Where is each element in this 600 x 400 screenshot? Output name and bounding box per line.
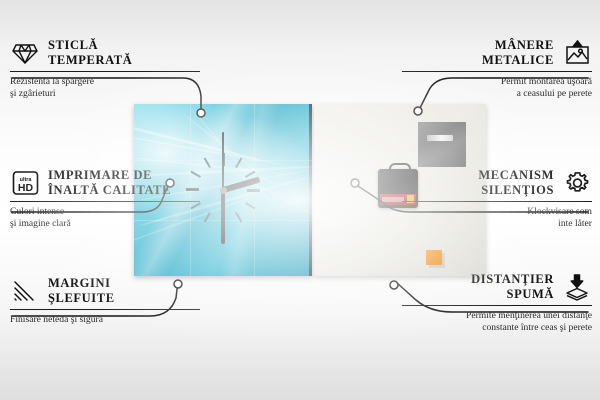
polished-edges-icon	[10, 277, 40, 305]
feature-title: DISTANŢIER SPUMĂ	[471, 272, 554, 302]
feature-title: MECANISM SILENŢIOS	[478, 168, 554, 198]
feature-subtext: Permite menţinerea unei distanţe constan…	[402, 310, 592, 334]
feature-title: MARGINI ŞLEFUITE	[48, 276, 115, 306]
feature-manere-metalice: MÂNERE METALICE Permit montarea uşoară a…	[402, 38, 592, 100]
clock-center-cap	[220, 187, 227, 194]
battery-label	[382, 197, 404, 202]
feature-header: STICLĂ TEMPERATĂ	[10, 38, 200, 68]
feature-sub-line2: a ceasului pe perete	[517, 88, 592, 99]
feature-sub-line1: Permit montarea uşoară	[501, 76, 592, 87]
feature-divider	[402, 71, 592, 73]
feature-sub-line1: Culori intense	[10, 206, 64, 217]
feature-header: MECANISM SILENŢIOS	[402, 168, 592, 198]
infographic-canvas: STICLĂ TEMPERATĂ Rezistentă la spargere …	[0, 0, 600, 400]
foam-spacer-part	[426, 250, 442, 265]
feature-title-line1: DISTANŢIER	[471, 272, 554, 286]
feature-title-line1: MECANISM	[478, 168, 554, 182]
feature-subtext: Permit montarea uşoară a ceasului pe per…	[402, 76, 592, 100]
feature-title-line2: TEMPERATĂ	[48, 53, 132, 67]
foam-spacer-icon	[562, 273, 592, 301]
feature-sub-line2: şi zgârieturi	[10, 88, 56, 99]
svg-text:HD: HD	[17, 182, 33, 194]
diamond-icon	[10, 39, 40, 67]
feature-imprimare-inalta-calitate: ultra HD IMPRIMARE DE ÎNALTĂ CALITATE Cu…	[10, 168, 200, 230]
feature-divider	[10, 309, 200, 311]
feature-sub-line2: inte låter	[558, 218, 592, 229]
feature-divider	[10, 71, 200, 73]
ultra-hd-icon: ultra HD	[10, 169, 40, 197]
feature-sub-line1: Permite menţinerea unei distanţe	[466, 310, 592, 321]
feature-title: MÂNERE METALICE	[482, 38, 554, 68]
feature-title-line2: SPUMĂ	[507, 287, 554, 301]
gear-icon	[562, 169, 592, 197]
feature-title-line2: SILENŢIOS	[481, 183, 554, 197]
feature-sticla-temperata: STICLĂ TEMPERATĂ Rezistentă la spargere …	[10, 38, 200, 100]
clock-minute-hand	[221, 190, 225, 244]
feature-title-line1: MARGINI	[48, 276, 111, 290]
feature-header: MARGINI ŞLEFUITE	[10, 276, 200, 306]
feature-margini-slefuite: MARGINI ŞLEFUITE Finisare netedă şi sigu…	[10, 276, 200, 326]
feature-title-line2: ŞLEFUITE	[48, 291, 115, 305]
clock-second-hand	[222, 132, 224, 190]
feature-title-line2: METALICE	[482, 53, 554, 67]
feature-header: ultra HD IMPRIMARE DE ÎNALTĂ CALITATE	[10, 168, 200, 198]
feature-title-line2: ÎNALTĂ CALITATE	[48, 183, 171, 197]
feature-title-line1: IMPRIMARE DE	[48, 168, 152, 182]
feature-divider	[402, 201, 592, 203]
feature-distantier-spuma: DISTANŢIER SPUMĂ Permite menţinerea unei…	[402, 272, 592, 334]
feature-subtext: Rezistentă la spargere şi zgârieturi	[10, 76, 200, 100]
feature-sub-line2: constante între ceas şi perete	[482, 322, 592, 333]
feature-subtext: Klockvisare som inte låter	[402, 206, 592, 230]
feature-header: DISTANŢIER SPUMĂ	[402, 272, 592, 302]
feature-sub-line1: Klockvisare som	[527, 206, 592, 217]
feature-header: MÂNERE METALICE	[402, 38, 592, 68]
feature-subtext: Finisare netedă şi sigură	[10, 314, 200, 326]
feature-sub-line2: şi imagine clară	[10, 218, 71, 229]
hanger-slot	[427, 135, 453, 141]
feature-divider	[402, 305, 592, 307]
picture-hanger-icon	[562, 39, 592, 67]
metal-hanger-part	[418, 122, 466, 167]
feature-title-line1: MÂNERE	[495, 38, 554, 52]
feature-subtext: Culori intense şi imagine clară	[10, 206, 200, 230]
feature-title: IMPRIMARE DE ÎNALTĂ CALITATE	[48, 168, 171, 198]
feature-title: STICLĂ TEMPERATĂ	[48, 38, 132, 68]
feature-sub-line1: Finisare netedă şi sigură	[10, 314, 103, 325]
feature-title-line1: STICLĂ	[48, 38, 98, 52]
feature-mecanism-silentios: MECANISM SILENŢIOS Klockvisare som inte …	[402, 168, 592, 230]
feature-divider	[10, 201, 200, 203]
feature-sub-line1: Rezistentă la spargere	[10, 76, 94, 87]
